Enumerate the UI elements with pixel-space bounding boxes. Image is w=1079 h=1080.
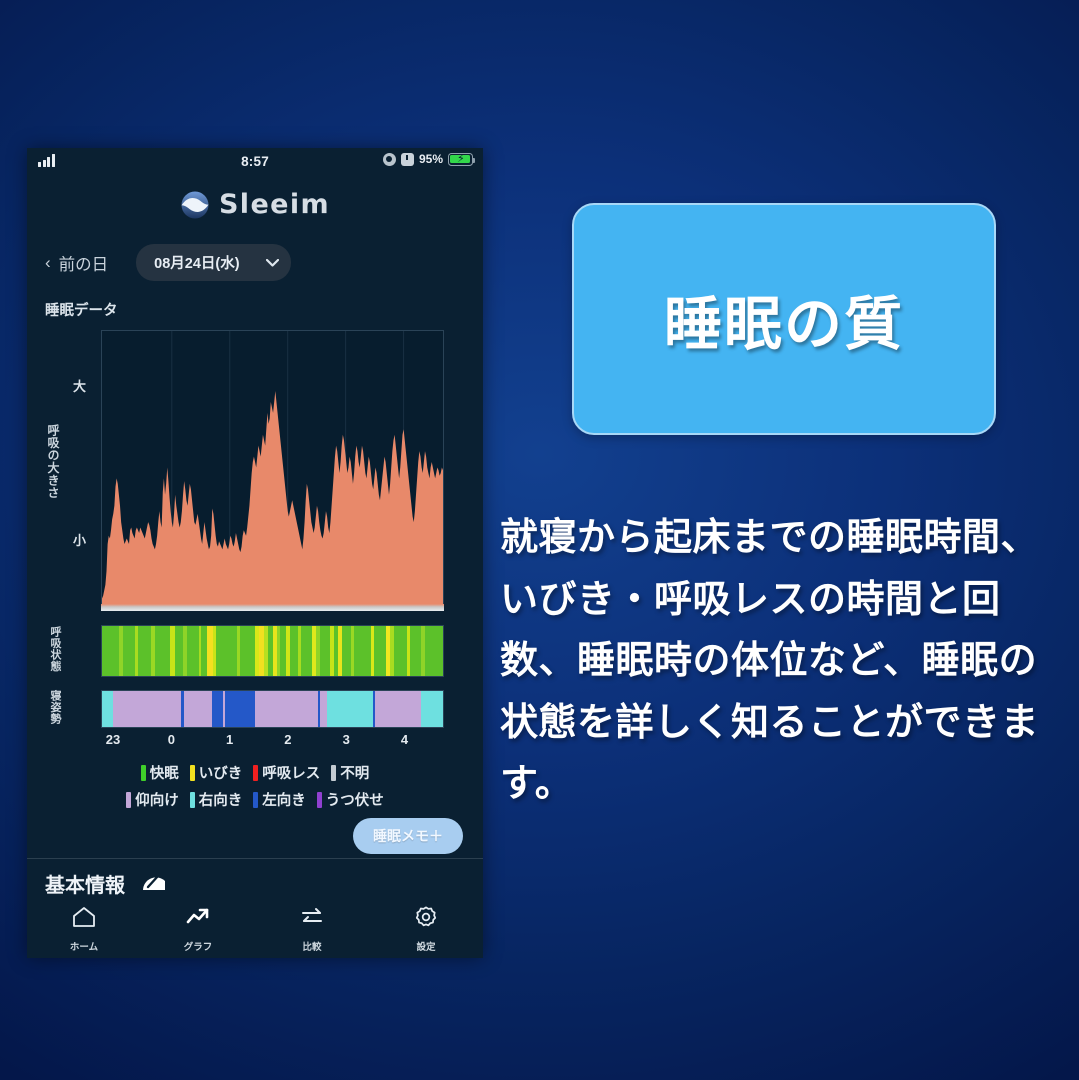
home-icon	[71, 905, 97, 934]
time-axis: 2301234	[101, 732, 444, 752]
timeline-segment	[175, 626, 183, 676]
timeline-segment	[320, 626, 330, 676]
app-brand: Sleeim	[27, 189, 483, 220]
sleep-graphs: 呼吸の大きさ 大 小 呼吸状態 寝姿勢 2301234	[27, 328, 483, 758]
breath-volume-chart[interactable]	[101, 330, 444, 604]
tab-settings[interactable]: 設定	[369, 905, 483, 953]
timeline-segment	[374, 626, 386, 676]
date-selector-value: 08月24日(水)	[154, 252, 239, 273]
time-axis-tick: 23	[106, 732, 120, 747]
timeline-segment	[290, 626, 298, 676]
legend-item-supine: 仰向け	[126, 789, 179, 810]
breath-state-chart[interactable]	[101, 625, 444, 677]
legend-swatch-icon	[317, 792, 322, 808]
timeline-segment	[225, 691, 255, 727]
legend-item-right-side: 右向き	[190, 789, 243, 810]
tab-compare[interactable]: 比較	[255, 905, 369, 953]
previous-day-label: 前の日	[59, 251, 109, 275]
previous-day-button[interactable]: ‹ 前の日	[45, 251, 108, 275]
legend-label: 不明	[340, 762, 369, 783]
compare-arrows-icon	[299, 905, 325, 934]
location-icon	[383, 153, 396, 166]
legend-swatch-icon	[141, 765, 146, 781]
legend-row-posture: 仰向け右向き左向きうつ伏せ	[126, 789, 384, 810]
basic-info-label: 基本情報	[45, 869, 125, 898]
basic-info-row[interactable]: 基本情報	[27, 859, 483, 899]
sleeim-eye-logo	[180, 190, 210, 220]
chevron-left-icon: ‹	[45, 253, 51, 273]
time-axis-tick: 2	[284, 732, 291, 747]
chevron-down-icon	[266, 256, 279, 270]
timeline-segment	[216, 626, 237, 676]
legend-item-apnea: 呼吸レス	[253, 762, 320, 783]
timeline-segment	[394, 626, 407, 676]
chart-legend: 快眠いびき呼吸レス不明 仰向け右向き左向きうつ伏せ	[27, 762, 483, 810]
gauge-icon	[141, 868, 167, 899]
time-axis-tick: 4	[401, 732, 408, 747]
promo-description: 就寝から起床までの睡眠時間、いびき・呼吸レスの時間と回数、睡眠時の体位など、睡眠…	[500, 508, 1060, 816]
tab-home-label: ホーム	[70, 939, 98, 953]
legend-label: 仰向け	[135, 789, 179, 810]
tab-home[interactable]: ホーム	[27, 905, 141, 953]
app-name: Sleeim	[219, 189, 330, 220]
timeline-segment	[421, 691, 443, 727]
breath-state-axis-label: 呼吸状態	[47, 626, 63, 672]
legend-item-unknown: 不明	[331, 762, 369, 783]
posture-axis-label: 寝姿勢	[47, 690, 63, 725]
timeline-segment	[410, 626, 422, 676]
legend-swatch-icon	[253, 792, 258, 808]
timeline-segment	[240, 626, 255, 676]
sleep-posture-chart[interactable]	[101, 690, 444, 728]
tab-graph[interactable]: グラフ	[141, 905, 255, 953]
legend-swatch-icon	[253, 765, 258, 781]
gear-icon	[413, 905, 439, 934]
time-axis-tick: 0	[168, 732, 175, 747]
timeline-segment	[155, 626, 170, 676]
timeline-segment	[354, 626, 370, 676]
axis-tick-high: 大	[73, 376, 86, 395]
status-bar: 8:57 95% ⚡	[27, 148, 483, 174]
date-selector[interactable]: 08月24日(水)	[136, 244, 291, 281]
legend-swatch-icon	[190, 792, 195, 808]
legend-row-breath-state: 快眠いびき呼吸レス不明	[141, 762, 370, 783]
timeline-segment	[187, 626, 199, 676]
battery-charging-icon: ⚡	[448, 153, 473, 166]
timeline-segment	[320, 691, 327, 727]
legend-swatch-icon	[331, 765, 336, 781]
timeline-segment	[113, 691, 182, 727]
timeline-segment	[123, 626, 135, 676]
date-navigation: ‹ 前の日 08月24日(水)	[27, 244, 483, 281]
breath-volume-axis-label: 呼吸の大きさ	[45, 424, 62, 499]
bottom-tab-bar: ホーム グラフ 比較 設	[27, 905, 483, 958]
tab-compare-label: 比較	[302, 939, 321, 953]
legend-label: 右向き	[199, 789, 243, 810]
legend-item-good-sleep: 快眠	[141, 762, 179, 783]
timeline-segment	[138, 626, 152, 676]
promo-badge: 睡眠の質	[572, 203, 996, 435]
promo-badge-title: 睡眠の質	[664, 277, 904, 361]
timeline-segment	[301, 626, 313, 676]
battery-percent-label: 95%	[419, 152, 443, 166]
chart-baseline	[101, 604, 444, 611]
alarm-icon	[401, 153, 414, 166]
timeline-segment	[327, 691, 373, 727]
legend-item-left-side: 左向き	[253, 789, 306, 810]
timeline-segment	[255, 691, 318, 727]
legend-label: 左向き	[262, 789, 306, 810]
time-axis-tick: 3	[343, 732, 350, 747]
timeline-segment	[425, 626, 442, 676]
timeline-segment	[184, 691, 212, 727]
legend-item-prone: うつ伏せ	[317, 789, 384, 810]
axis-tick-low: 小	[73, 530, 86, 549]
timeline-segment	[375, 691, 421, 727]
legend-item-snoring: いびき	[190, 762, 243, 783]
legend-swatch-icon	[126, 792, 131, 808]
timeline-segment	[102, 691, 113, 727]
legend-swatch-icon	[190, 765, 195, 781]
legend-label: 快眠	[150, 762, 179, 783]
tab-graph-label: グラフ	[184, 939, 213, 953]
trend-up-icon	[185, 905, 211, 934]
phone-mockup: 8:57 95% ⚡ Sleeim	[27, 148, 483, 958]
sleep-memo-button[interactable]: 睡眠メモ＋	[353, 818, 463, 854]
legend-label: いびき	[199, 762, 243, 783]
legend-label: 呼吸レス	[262, 762, 320, 783]
legend-label: うつ伏せ	[326, 789, 384, 810]
time-axis-tick: 1	[226, 732, 233, 747]
section-title: 睡眠データ	[45, 299, 483, 320]
timeline-segment	[102, 626, 119, 676]
timeline-segment	[342, 626, 351, 676]
tab-settings-label: 設定	[416, 939, 435, 953]
timeline-segment	[212, 691, 223, 727]
